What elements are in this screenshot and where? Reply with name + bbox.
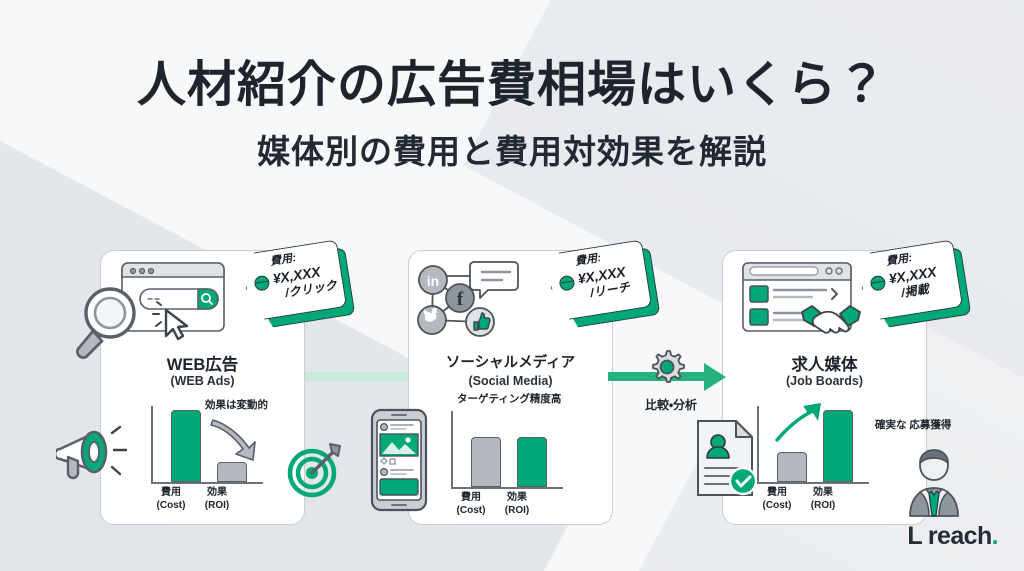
chart-axis-x [757, 482, 869, 484]
bar-label-roi-ja: 効果 [490, 492, 544, 505]
connector-label: 比較・分析 [612, 396, 730, 413]
brand-logo-dot: . [992, 522, 998, 550]
smartphone-icon [370, 408, 428, 512]
svg-text:f: f [457, 289, 464, 310]
chart-job-boards: 費用 (Cost) 効果 (ROI) [757, 406, 869, 484]
price-tag-social-media: 費用: ¥X,XXX /リーチ [546, 238, 661, 329]
target-arrow-icon [286, 440, 344, 498]
connector-compare-analyze [608, 362, 734, 392]
bar-cost [171, 410, 201, 482]
bar-roi [823, 410, 853, 482]
chart-note-job-boards: 確実な 応募獲得 [875, 419, 951, 432]
card-subtitle-social-media: (Social Media) [409, 374, 612, 388]
connector-line-1 [300, 372, 415, 381]
cursor-click-icon [152, 300, 196, 344]
brand-logo: L reach. [907, 522, 998, 551]
chart-axis-x [151, 482, 263, 484]
price-tag-job-boards: 費用: ¥X,XXX /掲載 [857, 238, 972, 329]
svg-text:in: in [427, 273, 439, 289]
chart-note-web-ads: 効果は変動的 [205, 399, 268, 412]
arrow-down-right-icon [209, 416, 261, 462]
magnifier-icon [72, 283, 148, 359]
resume-check-icon [694, 418, 760, 498]
card-title-job-boards: 求人媒体 [723, 351, 926, 375]
card-subtitle-web-ads: (WEB Ads) [101, 374, 304, 388]
page-subtitle: 媒体別の費用と費用対効果を解説 [0, 125, 1024, 173]
bar-cost [471, 437, 501, 487]
megaphone-icon [56, 423, 132, 489]
chart-axis-y [151, 406, 153, 484]
bar-cost [777, 452, 807, 482]
chart-note-social-media: ターゲティング精度高 [457, 393, 561, 406]
bar-label-roi-en: (ROI) [490, 505, 544, 518]
chart-note-line1: 確実な [875, 419, 907, 431]
card-title-social-media: ソーシャルメディア [409, 351, 612, 372]
chart-axis-y [451, 411, 453, 489]
brand-logo-text: L reach [907, 522, 991, 550]
bar-label-roi-ja: 効果 [190, 487, 244, 500]
bar-label-roi: 効果 (ROI) [796, 487, 850, 512]
arrow-right-icon [704, 363, 726, 391]
chart-note-line2: 応募獲得 [909, 419, 951, 431]
bar-roi [517, 437, 547, 487]
page-title: 人材紹介の広告費相場はいくら？ [0, 58, 1024, 113]
infographic-canvas: 人材紹介の広告費相場はいくら？ 媒体別の費用と費用対効果を解説 WEB広告 (W… [0, 0, 1024, 571]
handshake-icon [800, 300, 862, 342]
bar-label-roi: 効果 (ROI) [190, 487, 244, 512]
bar-label-roi: 効果 (ROI) [490, 492, 544, 517]
chart-social-media: 費用 (Cost) 効果 (ROI) [451, 411, 563, 489]
gear-icon [648, 348, 686, 386]
bar-roi [217, 462, 247, 482]
card-subtitle-job-boards: (Job Boards) [723, 374, 926, 388]
arrow-up-right-icon [775, 400, 827, 444]
bar-label-roi-ja: 効果 [796, 487, 850, 500]
social-network-cluster-icon: in f [408, 258, 523, 344]
price-tag-web-ads: 費用: ¥X,XXX /クリック [241, 238, 356, 329]
businessman-icon [900, 446, 968, 518]
title-block: 人材紹介の広告費相場はいくら？ 媒体別の費用と費用対効果を解説 [0, 58, 1024, 173]
chart-axis-x [451, 487, 563, 489]
bar-label-roi-en: (ROI) [190, 500, 244, 513]
bar-label-roi-en: (ROI) [796, 500, 850, 513]
